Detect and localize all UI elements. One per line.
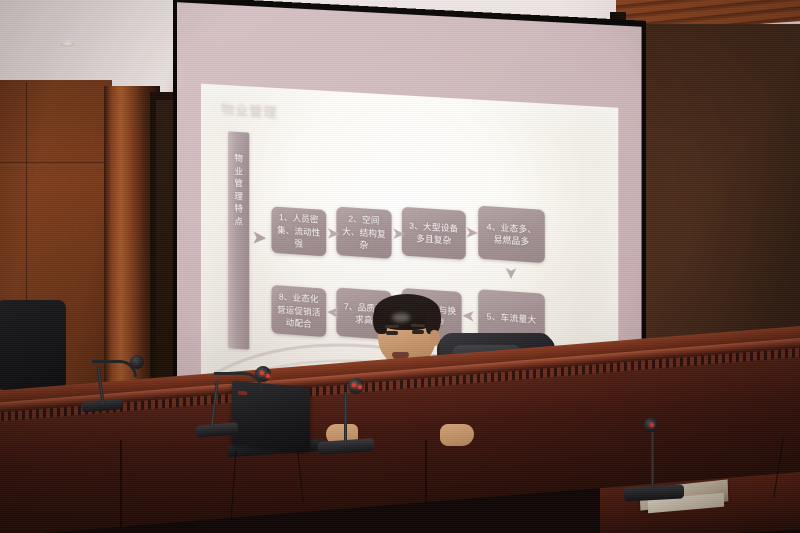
desk-panel-seam xyxy=(425,440,427,533)
wall-seam xyxy=(0,162,112,163)
wall-seam xyxy=(0,165,112,166)
screenshot-root: 物业管理 物 业 管 理 特 点 ➤ 1、人员密集、流动性强 2、空间大、结构复… xyxy=(0,0,800,533)
presenter-eye xyxy=(386,331,398,335)
microphone-gooseneck xyxy=(651,430,654,490)
downlight-icon xyxy=(60,41,75,47)
presenter-eye xyxy=(412,330,424,334)
microphone-led-indicator xyxy=(650,423,654,427)
microphone-gooseneck xyxy=(344,392,347,444)
presenter-forehead-highlight xyxy=(392,313,410,322)
microphone-led-indicator xyxy=(266,374,270,378)
microphone-led-indicator xyxy=(352,383,356,387)
laptop-logo-icon xyxy=(238,391,247,396)
presenter-hair-side xyxy=(373,308,387,334)
chair-far-left xyxy=(0,300,66,390)
microphone-capsule[interactable] xyxy=(130,355,144,369)
desk-panel-seam xyxy=(120,440,122,533)
presenter-hand-right xyxy=(440,424,474,446)
microphone-led-indicator xyxy=(260,371,264,375)
presenter-ear xyxy=(430,330,440,346)
microphone-led-indicator xyxy=(358,385,362,389)
